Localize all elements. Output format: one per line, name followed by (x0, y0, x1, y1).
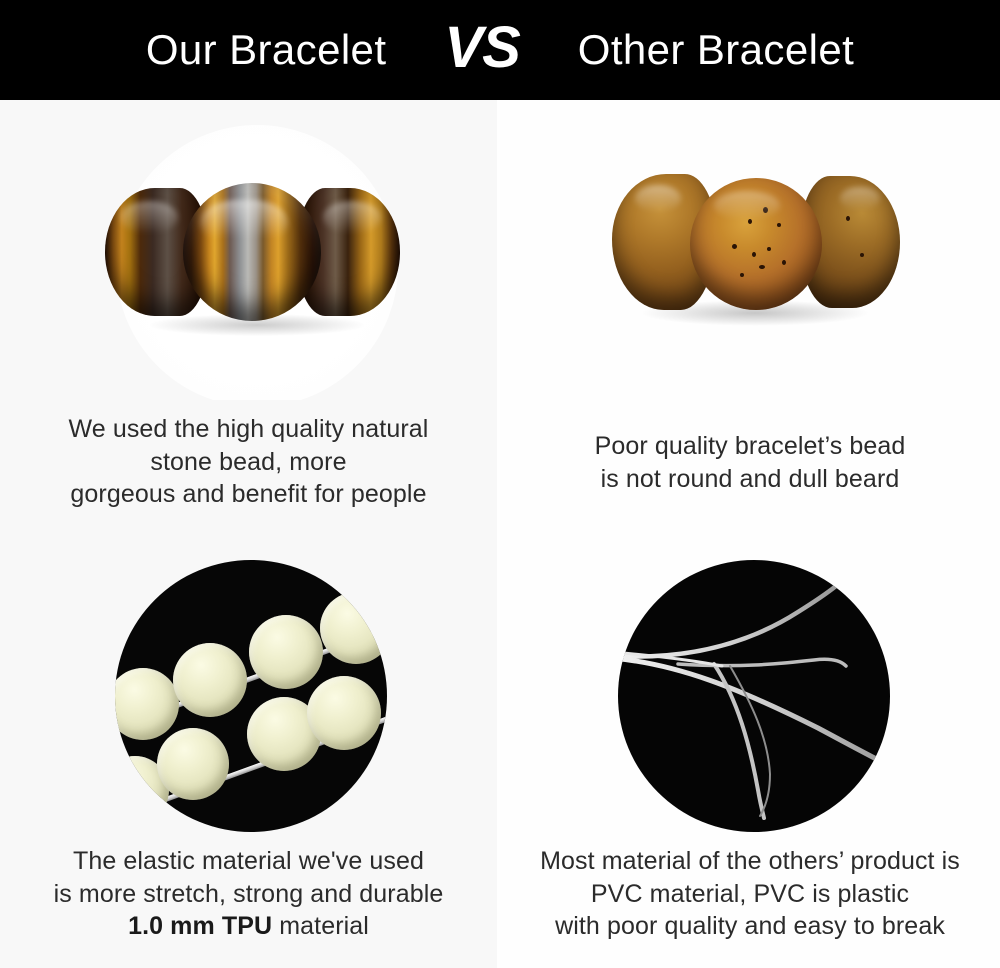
photo-tiger-eye-beads-dull-irregular (500, 100, 1000, 400)
pale-bead (320, 592, 387, 664)
caption-our-stone-bead: We used the high quality natural stone b… (0, 413, 497, 511)
header-vs-label: VS (444, 19, 519, 77)
pale-bead (249, 615, 323, 689)
caption-line-bold-mix: 1.0 mm TPU material (0, 910, 497, 943)
inclusion-speck (732, 244, 737, 249)
inclusion-speck (782, 260, 786, 265)
caption-other-poor-bead: Poor quality bracelet’s bead is not roun… (500, 430, 1000, 495)
caption-line: Most material of the others’ product is (500, 845, 1000, 878)
inclusion-speck (748, 219, 752, 224)
column-our-bracelet: We used the high quality natural stone b… (0, 100, 497, 968)
caption-other-pvc-material: Most material of the others’ product is … (500, 845, 1000, 943)
inclusion-speck (860, 253, 864, 257)
comparison-body: We used the high quality natural stone b… (0, 100, 1000, 968)
bead-group (0, 100, 497, 400)
caption-line: We used the high quality natural (0, 413, 497, 446)
photo-pvc-loose-threads (618, 560, 890, 832)
inclusion-speck (846, 216, 850, 221)
caption-line: Poor quality bracelet’s bead (500, 430, 1000, 463)
pale-bead (115, 668, 179, 740)
caption-line: gorgeous and benefit for people (0, 478, 497, 511)
dull-bead-center (690, 178, 822, 310)
tpu-spec-rest: material (272, 912, 369, 940)
pvc-thread-upper (618, 586, 836, 657)
caption-line: is not round and dull beard (500, 463, 1000, 496)
column-other-bracelet: Poor quality bracelet’s bead is not roun… (500, 100, 1000, 968)
inclusion-speck (759, 265, 765, 269)
inclusion-speck (740, 273, 744, 277)
tpu-spec-bold: 1.0 mm TPU (128, 912, 272, 940)
photo-tpu-elastic-cord-with-beads (115, 560, 387, 832)
header-inner: Our Bracelet VS Other Bracelet (0, 21, 1000, 79)
caption-line: is more stretch, strong and durable (0, 878, 497, 911)
caption-line: with poor quality and easy to break (500, 910, 1000, 943)
pvc-threads-svg (618, 560, 890, 832)
comparison-infographic: Our Bracelet VS Other Bracelet We used t… (0, 0, 1000, 968)
inclusion-speck (752, 252, 756, 257)
caption-line: stone bead, more (0, 446, 497, 479)
bead-center-round (183, 183, 321, 321)
header-left-title: Our Bracelet (146, 29, 387, 71)
header-banner: Our Bracelet VS Other Bracelet (0, 0, 1000, 100)
pale-bead (157, 728, 229, 800)
inclusion-speck (763, 207, 768, 213)
pale-bead (307, 676, 381, 750)
inclusion-speck (767, 247, 771, 251)
caption-our-tpu-material: The elastic material we've used is more … (0, 845, 497, 943)
photo-tiger-eye-beads-glossy-round (0, 100, 497, 400)
inclusion-speck (777, 223, 781, 227)
caption-line: The elastic material we've used (0, 845, 497, 878)
pale-bead (173, 643, 247, 717)
caption-line: PVC material, PVC is plastic (500, 878, 1000, 911)
header-right-title: Other Bracelet (578, 29, 854, 71)
